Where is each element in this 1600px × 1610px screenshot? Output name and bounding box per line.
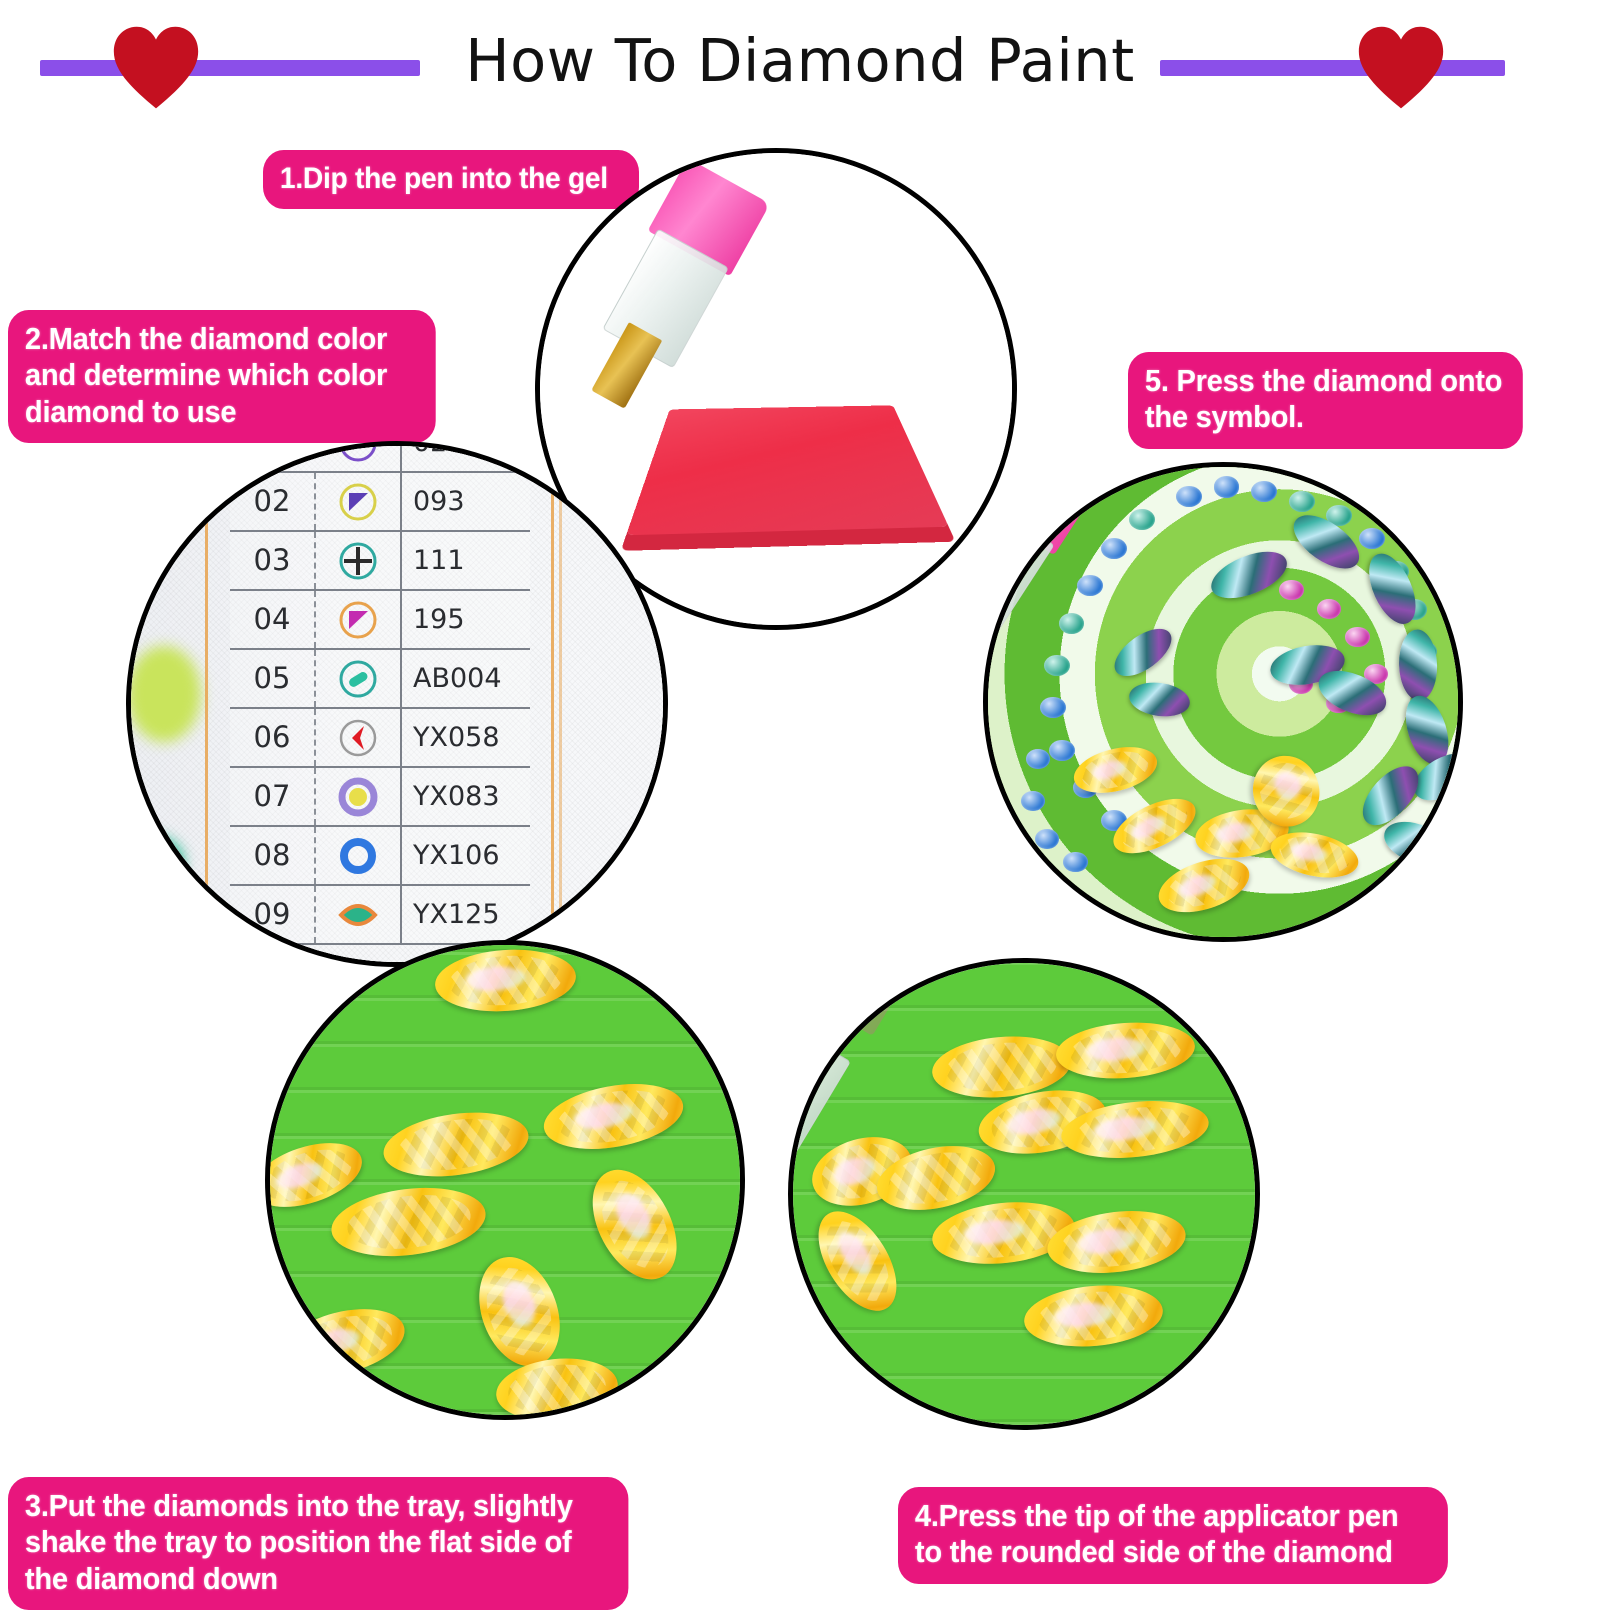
chart-row-code: YX106 [402,840,530,871]
table-row: 028 [230,441,530,473]
chart-row-number: 02 [230,473,316,530]
diamond-gem [1105,788,1204,865]
chart-row-code: YX083 [402,781,530,812]
step-5-label: 5. Press the diamond onto the symbol. [1128,352,1523,449]
canvas-dark-gem [1107,620,1180,685]
ring-symbol [316,827,402,884]
diamonds-in-tray-photo [265,940,745,1420]
canvas-rhinestone [1059,613,1085,634]
plus-symbol [316,532,402,589]
canvas-rhinestone [1049,740,1075,761]
canvas-dark-gem [1127,679,1192,720]
canvas-rhinestone [1176,486,1202,507]
applicator-pen [569,158,771,418]
chart-row-code: 111 [402,545,530,576]
filled-circle-symbol [316,768,402,825]
chart-row-number: 05 [230,650,316,707]
table-row: 03 111 [230,532,530,591]
canvas-rhinestone [1251,481,1277,502]
canvas-rhinestone [1044,655,1070,676]
chart-row-number: 08 [230,827,316,884]
chart-row-code: YX058 [402,722,530,753]
diamond-onto-canvas-photo [983,462,1463,942]
chart-row-number: 04 [230,591,316,648]
infographic-canvas: How To Diamond Paint 1.Dip the pen into … [0,0,1600,1600]
chart-row-code: 093 [402,486,530,517]
canvas-rhinestone [1214,476,1240,497]
chart-row-code: AB004 [402,663,530,694]
color-chart-photo: 02802 09303 11104 19505 AB00406 YX05807 … [126,441,668,967]
canvas-dark-gem [1378,814,1453,872]
chart-row-code: 028 [402,441,530,458]
page-title: How To Diamond Paint [0,26,1600,95]
canvas-dark-gem [1205,543,1293,608]
chevron-left-symbol [316,709,402,766]
table-row: 09YX125 [230,886,530,945]
canvas-rhinestone [1129,509,1155,530]
canvas-rhinestone [1063,852,1087,872]
table-row: 07 YX083 [230,768,530,827]
pen-picking-diamond-photo [788,958,1260,1430]
triangle-symbol [316,591,402,648]
canvas-rhinestone [1021,791,1045,811]
triangle-symbol [316,473,402,530]
canvas-rhinestone [1289,491,1315,512]
canvas-rhinestone [1317,599,1341,619]
table-row: 06 YX058 [230,709,530,768]
chart-row-code: 195 [402,604,530,635]
canvas-rhinestone [1040,697,1066,718]
chart-row-number: 07 [230,768,316,825]
canvas-rhinestone [1101,538,1127,559]
color-chart-table: 02802 09303 11104 19505 AB00406 YX05807 … [230,441,530,945]
canvas-rhinestone [1026,749,1050,769]
canvas-rhinestone [1345,627,1369,647]
table-row: 05 AB004 [230,650,530,709]
table-row: 04 195 [230,591,530,650]
chart-row-number: 06 [230,709,316,766]
leaf-symbol [316,886,402,943]
diamond-gem [1152,848,1256,922]
step-2-label: 2.Match the diamond color and determine … [8,310,436,443]
canvas-rhinestone [1077,575,1103,596]
canvas-rhinestone [1279,580,1303,600]
double-diamond-symbol [316,441,402,471]
canvas-rhinestone [1359,528,1385,549]
table-row: 08YX106 [230,827,530,886]
step-4-label: 4.Press the tip of the applicator pen to… [898,1487,1448,1584]
capsule-symbol [316,650,402,707]
chart-row-code: YX125 [402,899,530,930]
canvas-dark-gem [1398,629,1438,701]
canvas-rhinestone [1035,829,1059,849]
gel-block [627,405,950,534]
table-row: 02 093 [230,473,530,532]
step-3-label: 3.Put the diamonds into the tray, slight… [8,1477,628,1610]
chart-row-number: 09 [230,886,316,943]
chart-row-number: 03 [230,532,316,589]
